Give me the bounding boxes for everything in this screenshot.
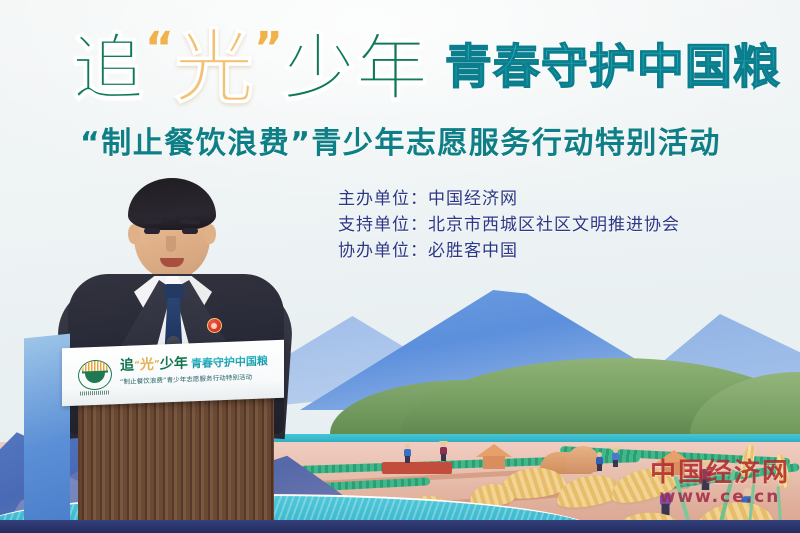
- figure-legs: [441, 454, 446, 461]
- watermark-site-name: 中国经济网: [650, 459, 790, 487]
- ear-left: [128, 224, 140, 244]
- stage-floor: [0, 520, 800, 533]
- hut-body: [483, 456, 505, 469]
- figure-legs: [597, 464, 602, 471]
- podium-headline-part1: 追: [120, 357, 134, 374]
- headline-quote-close: ”: [254, 24, 283, 74]
- grain-pile: [566, 446, 600, 472]
- podium-body: [78, 398, 274, 533]
- farmer-figure: [440, 442, 447, 460]
- eye-right: [182, 228, 198, 234]
- harvest-cart: [382, 462, 452, 474]
- emblem-caption: [80, 390, 110, 395]
- podium-sign-text: 追“光”少年青春守护中国粮 “制止餐饮浪费”青少年志愿服务行动特别活动: [120, 352, 276, 387]
- watermark-url: www.ce.cn: [650, 487, 790, 507]
- lapel-pin-center: [211, 323, 217, 329]
- headline-part2: 少年: [283, 24, 429, 112]
- lapel-pin-icon: [207, 318, 222, 333]
- nose: [166, 236, 176, 252]
- headline-quote-open: “: [145, 24, 174, 74]
- headline-gold-char: 光: [174, 24, 254, 112]
- necktie-knot: [164, 284, 184, 300]
- ear-right: [204, 224, 216, 244]
- watermark: 中国经济网 www.ce.cn: [650, 459, 790, 507]
- podium-headline-tagline: 青春守护中国粮: [191, 354, 268, 370]
- figure-legs: [613, 460, 618, 467]
- organizer-list: 主办单位：中国经济网 支持单位：北京市西城区社区文明推进协会 协办单位：必胜客中…: [338, 186, 680, 264]
- podium-headline-part2: 少年: [160, 355, 188, 372]
- podium-headline-gold: 光: [140, 357, 154, 374]
- headline-part1: 追: [72, 24, 145, 112]
- organizer-row-support: 支持单位：北京市西城区社区文明推进协会: [338, 212, 680, 238]
- eye-left: [144, 228, 160, 234]
- headline-tagline: 青春守护中国粮: [445, 24, 781, 112]
- podium-sign: 追“光”少年青春守护中国粮 “制止餐饮浪费”青少年志愿服务行动特别活动: [66, 346, 280, 402]
- anti-food-waste-emblem-icon: [78, 359, 112, 394]
- backdrop-subtitle: “制止餐饮浪费”青少年志愿服务行动特别活动: [80, 124, 721, 164]
- farmer-figure: [596, 452, 603, 470]
- organizer-row-host: 主办单位：中国经济网: [338, 186, 680, 212]
- backdrop-headline: 追“光”少年青春守护中国粮: [72, 24, 792, 116]
- farmer-figure: [612, 448, 619, 466]
- podium: 追“光”少年青春守护中国粮 “制止餐饮浪费”青少年志愿服务行动特别活动: [56, 344, 288, 533]
- event-photo: 追“光”少年青春守护中国粮 “制止餐饮浪费”青少年志愿服务行动特别活动 主办单位…: [0, 0, 800, 533]
- organizer-row-coorganizer: 协办单位：必胜客中国: [338, 238, 680, 264]
- farm-hut: [480, 444, 508, 468]
- farmer-figure: [404, 444, 411, 462]
- figure-legs: [405, 456, 410, 463]
